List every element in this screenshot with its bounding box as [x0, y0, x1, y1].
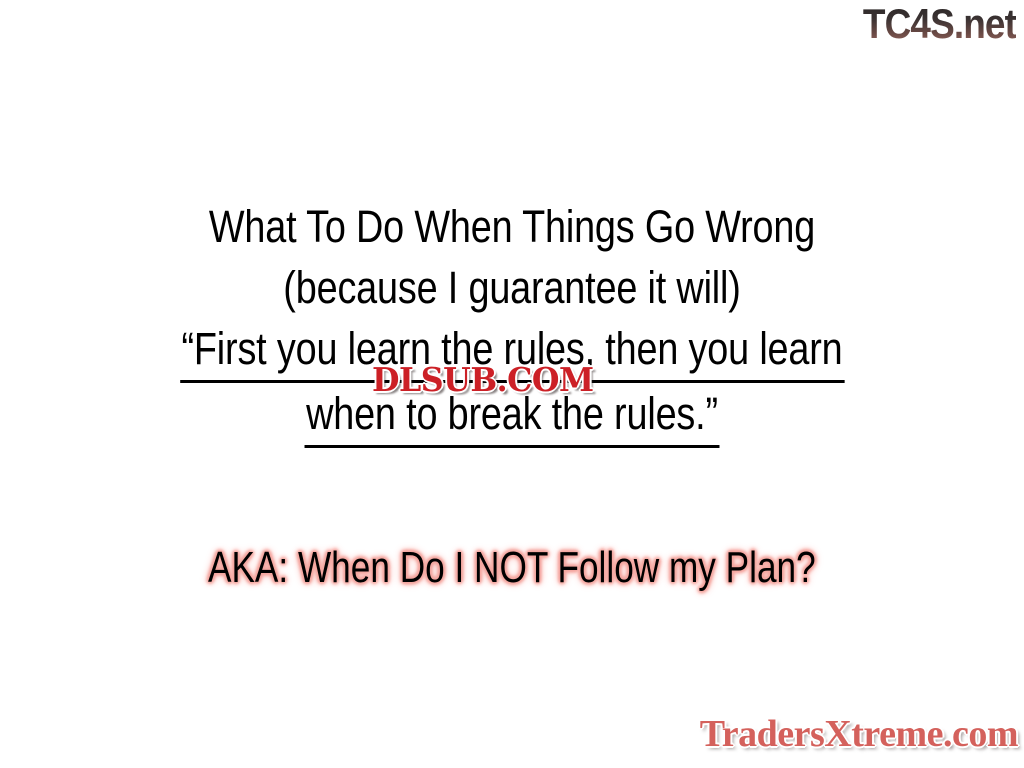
slide-emphasis-block: AKA: When Do I NOT Follow my Plan? — [0, 541, 1024, 595]
watermark-dlsub: DLSUB.COM — [372, 363, 594, 397]
emphasis-line-text: AKA: When Do I NOT Follow my Plan? — [208, 541, 816, 595]
body-line-2-text: (because I guarantee it will) — [282, 257, 743, 318]
body-line-1: What To Do When Things Go Wrong — [82, 196, 942, 257]
slide-canvas: TC4S.net What To Do When Things Go Wrong… — [0, 0, 1024, 768]
watermark-tc4s: TC4S.net — [863, 2, 1016, 46]
slide-body-text: What To Do When Things Go Wrong (because… — [0, 196, 1024, 448]
body-line-1-text: What To Do When Things Go Wrong — [207, 196, 817, 257]
body-line-2: (because I guarantee it will) — [82, 257, 942, 318]
watermark-tradersxtreme: TradersXtreme.com — [700, 714, 1018, 754]
